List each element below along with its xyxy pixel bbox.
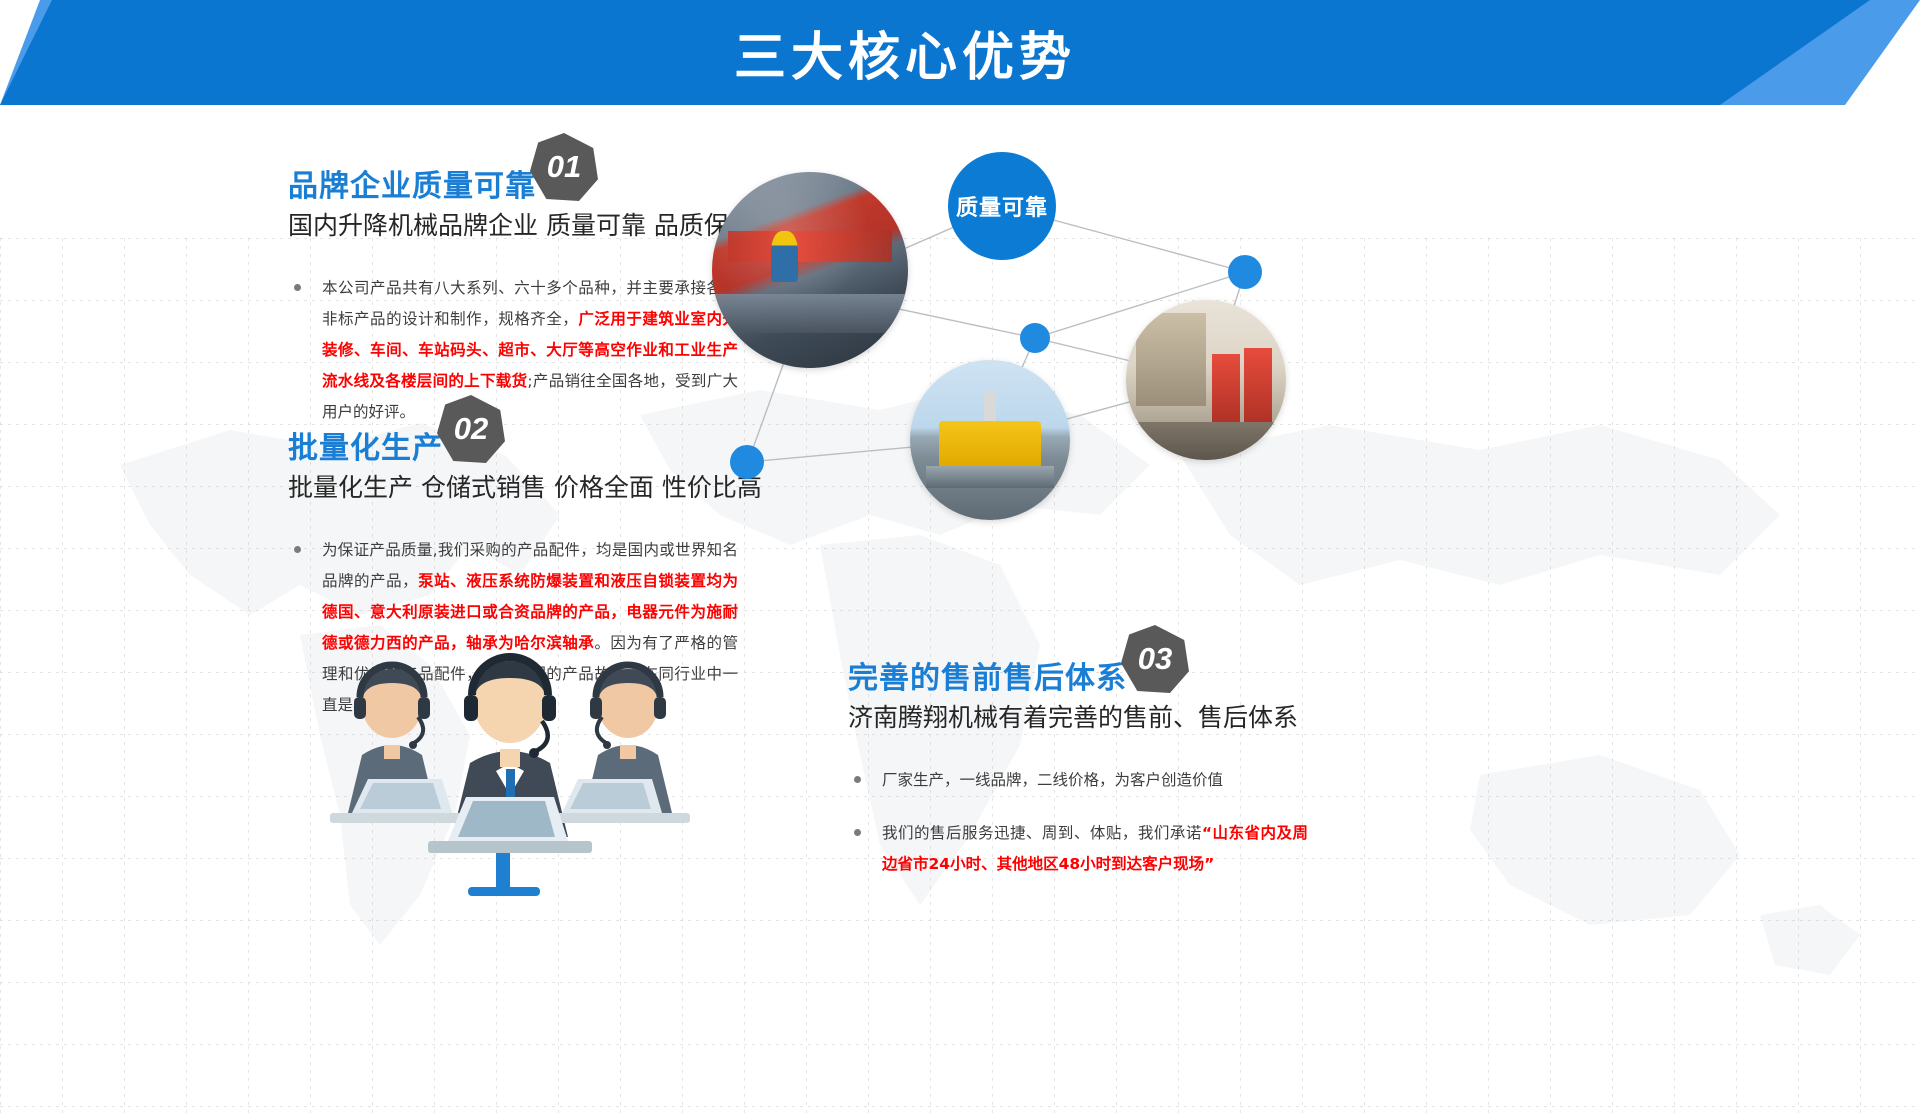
page-header: 三大核心优势 xyxy=(0,0,1920,105)
bullet-text: 我们的售后服务迅捷、周到、体贴，我们承诺“山东省内及周边省市24小时、其他地区4… xyxy=(882,818,1308,880)
desk-center xyxy=(428,841,592,853)
grid-line-h xyxy=(0,1106,1920,1107)
quality-bubble: 质量可靠 xyxy=(948,152,1056,260)
section-01-number-badge: 01 xyxy=(530,133,598,201)
network-dot-top-right xyxy=(1228,255,1262,289)
feature-section-03: 完善的售前售后体系 03 济南腾翔机械有着完善的售前、售后体系 厂家生产，一线品… xyxy=(848,625,1308,902)
section-02-number-badge: 02 xyxy=(437,395,505,463)
section-01-head: 品牌企业质量可靠 01 xyxy=(288,133,738,203)
page-title: 三大核心优势 xyxy=(0,0,1920,105)
section-03-subtitle: 济南腾翔机械有着完善的售前、售后体系 xyxy=(848,701,1308,735)
section-03-title: 完善的售前售后体系 xyxy=(848,662,1127,695)
bullet-item: 厂家生产，一线品牌，二线价格，为客户创造价值 xyxy=(848,765,1308,796)
section-01-title: 品牌企业质量可靠 xyxy=(288,170,536,203)
network-diagram: 质量可靠 xyxy=(690,120,1310,540)
body-text: 我们的售后服务迅捷、周到、体贴，我们承诺 xyxy=(882,824,1202,842)
customer-service-illustration xyxy=(300,645,720,905)
factory-photo xyxy=(712,172,908,368)
section-02-title: 批量化生产 xyxy=(288,432,443,465)
desk-right xyxy=(540,813,690,823)
body-text: 厂家生产，一线品牌，二线价格，为客户创造价值 xyxy=(882,771,1223,789)
network-dot-bottom-left xyxy=(730,445,764,479)
section-03-bullets: 厂家生产，一线品牌，二线价格，为客户创造价值 我们的售后服务迅捷、周到、体贴，我… xyxy=(848,765,1308,880)
section-03-number-badge: 03 xyxy=(1121,625,1189,693)
platform-photo xyxy=(910,360,1070,520)
section-02-head: 批量化生产 02 xyxy=(288,395,738,465)
network-dot-center xyxy=(1020,323,1050,353)
warehouse-photo xyxy=(1126,300,1286,460)
bullet-text: 厂家生产，一线品牌，二线价格，为客户创造价值 xyxy=(882,765,1308,796)
section-01-subtitle: 国内升降机械品牌企业 质量可靠 品质保证 xyxy=(288,209,738,243)
section-03-head: 完善的售前售后体系 03 xyxy=(848,625,1308,695)
section-02-subtitle: 批量化生产 仓储式销售 价格全面 性价比高 xyxy=(288,471,738,505)
bullet-item: 我们的售后服务迅捷、周到、体贴，我们承诺“山东省内及周边省市24小时、其他地区4… xyxy=(848,818,1308,880)
